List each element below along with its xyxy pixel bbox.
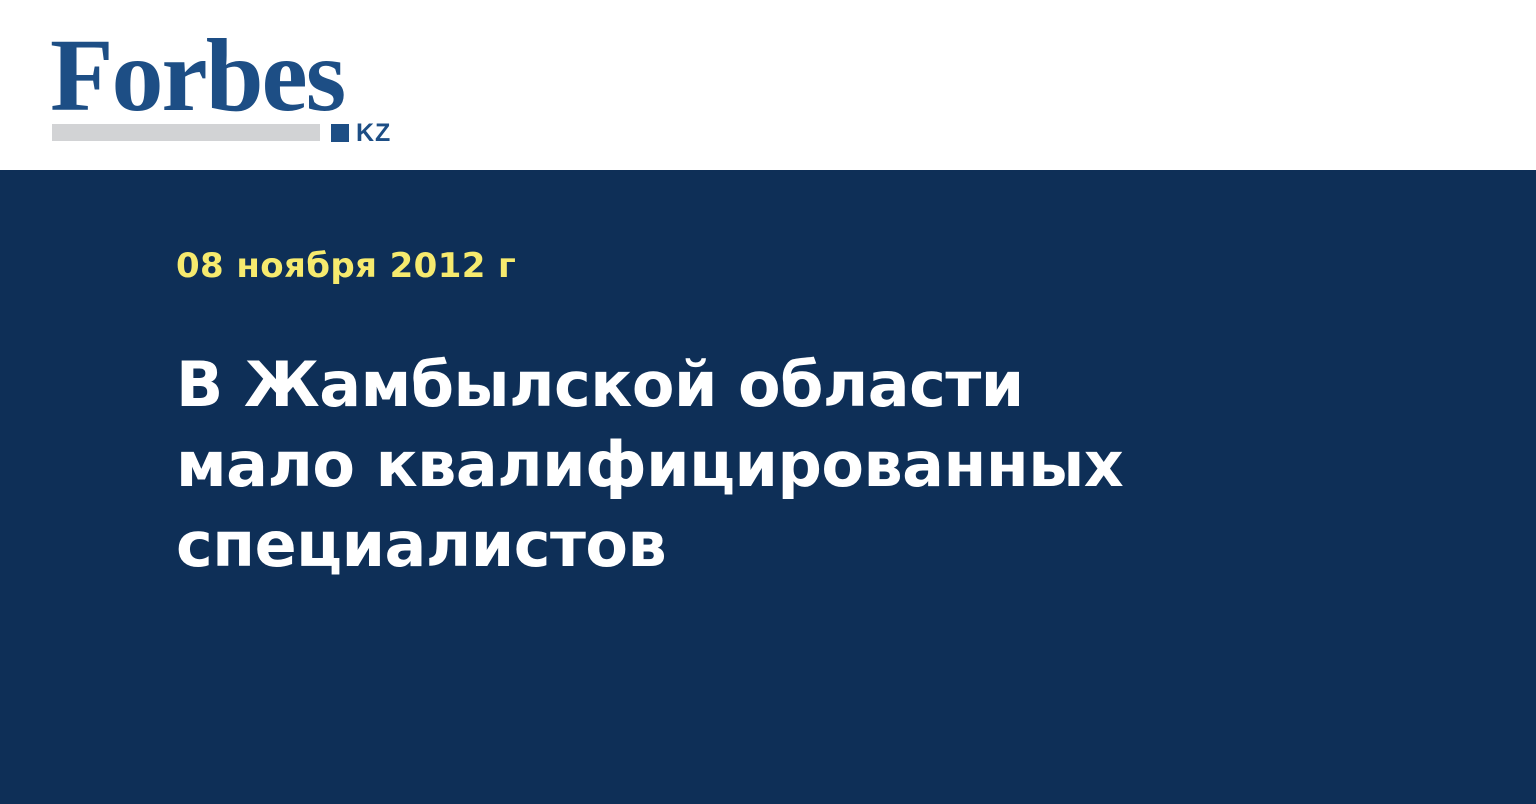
masthead: Forbes KZ — [0, 0, 1536, 170]
forbes-wordmark: Forbes — [50, 24, 344, 128]
forbes-kz-logo[interactable]: Forbes KZ — [50, 24, 410, 144]
logo-underline-bar — [52, 124, 320, 141]
article-publish-date: 08 ноября 2012 г — [176, 249, 516, 283]
logo-kz-suffix: KZ — [356, 121, 391, 146]
blue-square-icon — [331, 124, 349, 142]
article-header-page: Forbes KZ 08 ноября 2012 г В Жамбылской … — [0, 0, 1536, 804]
hero-banner: 08 ноября 2012 г В Жамбылской области ма… — [0, 170, 1536, 804]
article-title: В Жамбылской области мало квалифицирован… — [176, 345, 1216, 585]
